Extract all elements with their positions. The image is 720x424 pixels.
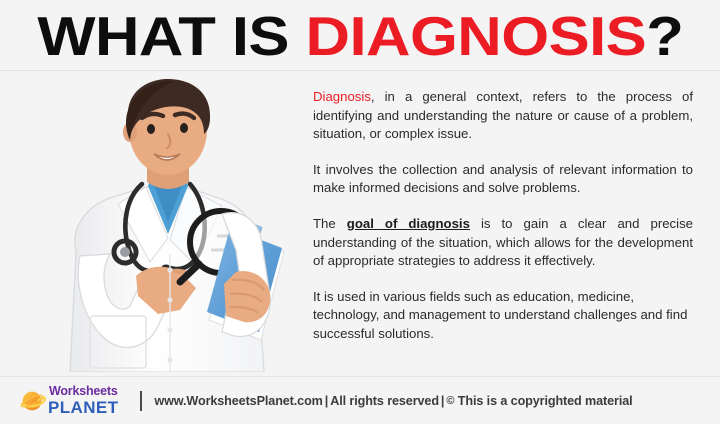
doctor-illustration [18,74,304,372]
paragraph-1: Diagnosis, in a general context, refers … [313,88,693,144]
eye-right [180,123,188,133]
copyright-icon: © [446,395,454,407]
page-footer: Worksheets PLANET www.WorksheetsPlanet.c… [0,377,720,424]
page-title-part-diagnosis: DIAGNOSIS [305,5,646,67]
logo-wordmark: Worksheets PLANET [48,385,118,416]
footer-vertical-rule [140,391,142,411]
stethoscope-diaphragm [120,247,130,257]
worksheet-page: WHAT IS DIAGNOSIS? [0,0,720,424]
definition-text-column: Diagnosis, in a general context, refers … [313,88,693,344]
keyword-goal-of-diagnosis: goal of diagnosis [347,216,470,231]
page-title-question-mark: ? [646,5,683,67]
page-title-part-what-is: WHAT IS [37,5,305,67]
worksheets-planet-logo[interactable]: Worksheets PLANET [20,385,118,416]
paragraph-4: It is used in various fields such as edu… [313,288,693,344]
footer-rights: All rights reserved [330,394,439,408]
paragraph-1-rest: , in a general context, refers to the pr… [313,89,693,141]
paragraph-2: It involves the collection and analysis … [313,161,693,198]
footer-credits: www.WorksheetsPlanet.com|All rights rese… [154,394,632,408]
eye-left [147,124,155,134]
keyword-diagnosis: Diagnosis [313,89,371,104]
logo-line-planet: PLANET [48,399,118,416]
planet-icon [20,388,46,414]
logo-line-worksheets: Worksheets [49,385,118,398]
paragraph-3-prefix: The [313,216,347,231]
page-title: WHAT IS DIAGNOSIS? [37,8,683,64]
paragraph-3: The goal of diagnosis is to gain a clear… [313,215,693,271]
footer-copyright-note: This is a copyrighted material [458,394,633,408]
footer-separator-2: | [439,394,446,408]
footer-website[interactable]: www.WorksheetsPlanet.com [154,394,322,408]
header-divider [0,70,720,71]
page-header: WHAT IS DIAGNOSIS? [0,0,720,70]
